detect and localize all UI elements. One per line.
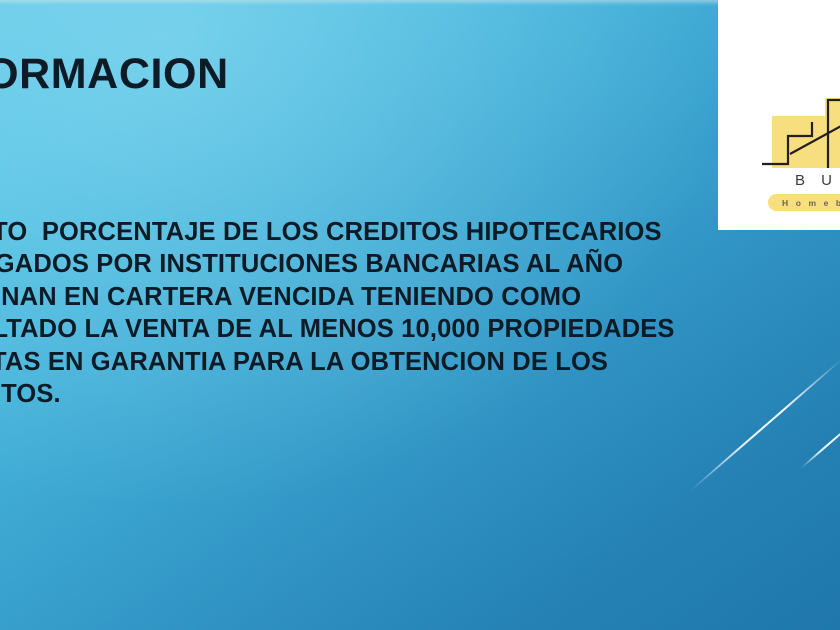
- slide-body-text: EL ALTO PORCENTAJE DE LOS CREDITOS HIPOT…: [0, 216, 801, 410]
- house-line-art-icon: [762, 92, 840, 170]
- logo-tagline-pill: H o m e b: [768, 194, 840, 211]
- body-line: OTORGADOS POR INSTITUCIONES BANCARIAS AL…: [0, 248, 801, 280]
- logo-wordmark: B U: [795, 172, 838, 189]
- house-outline-icon: [762, 92, 840, 170]
- presentation-slide: INFORMACION EL ALTO PORCENTAJE DE LOS CR…: [0, 0, 840, 630]
- logo-card: B U H o m e b: [718, 0, 840, 230]
- body-line: CREDITOS.: [0, 378, 801, 410]
- slide-title: INFORMACION: [0, 52, 614, 97]
- body-line: PUESTAS EN GARANTIA PARA LA OBTENCION DE…: [0, 346, 801, 378]
- body-line: RESULTADO LA VENTA DE AL MENOS 10,000 PR…: [0, 313, 801, 345]
- light-streak-short: [799, 417, 840, 470]
- body-line: TERMINAN EN CARTERA VENCIDA TENIENDO COM…: [0, 281, 801, 313]
- logo-tagline-text: H o m e b: [782, 198, 840, 208]
- top-edge-highlight: [0, 0, 840, 7]
- body-line: EL ALTO PORCENTAJE DE LOS CREDITOS HIPOT…: [0, 216, 801, 248]
